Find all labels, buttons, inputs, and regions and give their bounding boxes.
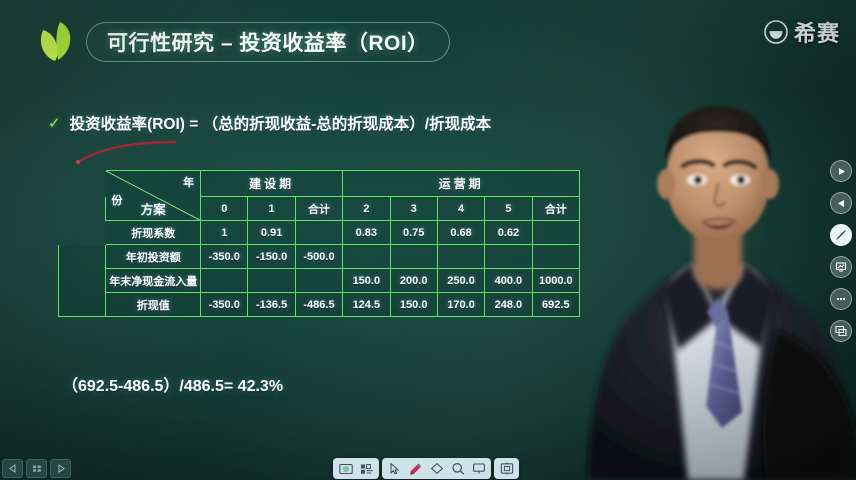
- toolbar-group-view: [333, 458, 379, 479]
- table-row: 折现系数 1 0.91 0.83 0.75 0.68 0.62: [59, 221, 580, 245]
- cell-r1-c2: -500.0: [295, 245, 342, 269]
- row-label-net-cash-inflow: 年末净现金流入量: [106, 269, 201, 293]
- brand-logo: 希赛: [763, 16, 840, 48]
- cell-r2-c6: 400.0: [485, 269, 532, 293]
- cell-r0-c3: 0.83: [343, 221, 390, 245]
- prev-slide-icon[interactable]: [2, 459, 23, 478]
- presenter-video-overlay: [566, 50, 856, 480]
- leaf-logo-icon: [30, 14, 84, 68]
- page-title: 可行性研究 – 投资收益率（ROI）: [107, 27, 429, 57]
- row-label-discount-factor: 折现系数: [106, 221, 201, 245]
- cell-r2-c2: [295, 269, 342, 293]
- cell-r2-c5: 250.0: [437, 269, 484, 293]
- column-header-2: 2: [343, 197, 390, 221]
- cell-r1-c1: -150.0: [248, 245, 295, 269]
- roi-result-text: （692.5-486.5）/486.5= 42.3%: [62, 372, 283, 396]
- cursor-arrow-icon[interactable]: [385, 460, 404, 477]
- slide-grid-icon[interactable]: [26, 459, 47, 478]
- play-next-icon[interactable]: [830, 160, 852, 182]
- cell-r2-c4: 200.0: [390, 269, 437, 293]
- corner-plan-label: 方案: [141, 199, 166, 218]
- cell-r3-c0: -350.0: [201, 293, 248, 317]
- xisai-circle-icon: [763, 19, 789, 45]
- toolbar-group-tools: [382, 458, 491, 479]
- corner-year-label: 年: [183, 174, 194, 190]
- cell-r2-c1: [248, 269, 295, 293]
- group-header-construction: 建设期: [201, 171, 343, 197]
- cell-r1-c4: [390, 245, 437, 269]
- corner-fen-label: 份: [111, 192, 122, 208]
- cell-r3-c4: 150.0: [390, 293, 437, 317]
- roi-formula-text: 投资收益率(ROI) = （总的折现收益-总的折现成本）/折现成本: [70, 112, 492, 134]
- group-header-operation: 运营期: [343, 171, 580, 197]
- column-header-3: 3: [390, 197, 437, 221]
- table-row: 年初投资额 -350.0 -150.0 -500.0: [59, 245, 580, 269]
- cell-r3-c6: 248.0: [485, 293, 532, 317]
- cell-r0-c1: 0.91: [248, 221, 295, 245]
- corner-spacer: [59, 171, 106, 197]
- table-row: 折现值 -350.0 -136.5 -486.5 124.5 150.0 170…: [59, 293, 580, 317]
- cell-r3-c3: 124.5: [343, 293, 390, 317]
- column-header-4: 4: [437, 197, 484, 221]
- pen-icon[interactable]: [830, 224, 852, 246]
- cell-r0-c2: [295, 221, 342, 245]
- eraser-tool-icon[interactable]: [427, 460, 446, 477]
- magnifier-icon[interactable]: [448, 460, 467, 477]
- row-label-discounted-value: 折现值: [106, 293, 201, 317]
- check-icon: ✓: [48, 116, 61, 131]
- cell-r3-c2: -486.5: [295, 293, 342, 317]
- column-header-0: 0: [201, 197, 248, 221]
- table-corner-cell: 年 份 方案: [106, 171, 201, 221]
- cell-r0-c4: 0.75: [390, 221, 437, 245]
- column-header-1: 1: [248, 197, 295, 221]
- cell-r1-c0: -350.0: [201, 245, 248, 269]
- cell-r0-c6: 0.62: [485, 221, 532, 245]
- corner-spacer-2: [59, 197, 106, 221]
- slide-layout-icon[interactable]: [357, 460, 376, 477]
- cell-r0-c0: 1: [201, 221, 248, 245]
- table-row: 年末净现金流入量 150.0 200.0 250.0 400.0 1000.0: [59, 269, 580, 293]
- presentation-mode-icon[interactable]: [336, 460, 355, 477]
- roi-table: 年 份 方案 建设期 运营期 0 1 合计 2 3 4 5 合计 折现: [58, 170, 580, 317]
- table-group-header-row: 年 份 方案 建设期 运营期: [59, 171, 580, 197]
- cell-r0-c5: 0.68: [437, 221, 484, 245]
- row-label-initial-investment: 年初投资额: [106, 245, 201, 269]
- column-header-sum-construction: 合计: [295, 197, 342, 221]
- slide-screen: 可行性研究 – 投资收益率（ROI） 希赛 ✓ 投资收益率(ROI) = （总的…: [0, 0, 856, 480]
- cell-r2-c3: 150.0: [343, 269, 390, 293]
- roi-formula-line: ✓ 投资收益率(ROI) = （总的折现收益-总的折现成本）/折现成本: [48, 112, 491, 134]
- next-slide-icon[interactable]: [50, 459, 71, 478]
- whiteboard-icon[interactable]: [497, 460, 516, 477]
- slide-title-box: 可行性研究 – 投资收益率（ROI）: [86, 22, 450, 62]
- annotation-toolbar: [333, 458, 519, 479]
- slide-nav-toolbar: [2, 459, 71, 478]
- pen-tool-icon[interactable]: [406, 460, 425, 477]
- toolbar-group-board: [494, 458, 519, 479]
- cell-r1-c3: [343, 245, 390, 269]
- row-spacer-1: [59, 221, 106, 245]
- brand-name: 希赛: [794, 16, 840, 48]
- cell-r1-c6: [485, 245, 532, 269]
- column-header-5: 5: [485, 197, 532, 221]
- presenter-screen-icon[interactable]: [830, 256, 852, 278]
- cell-r1-c5: [437, 245, 484, 269]
- row-group-spacer: [59, 245, 106, 317]
- cell-r3-c1: -136.5: [248, 293, 295, 317]
- side-control-rail: [830, 160, 852, 342]
- cell-r2-c0: [201, 269, 248, 293]
- laser-pointer-icon[interactable]: [469, 460, 488, 477]
- cell-r3-c5: 170.0: [437, 293, 484, 317]
- play-prev-icon[interactable]: [830, 192, 852, 214]
- screenshot-icon[interactable]: [830, 320, 852, 342]
- more-options-icon[interactable]: [830, 288, 852, 310]
